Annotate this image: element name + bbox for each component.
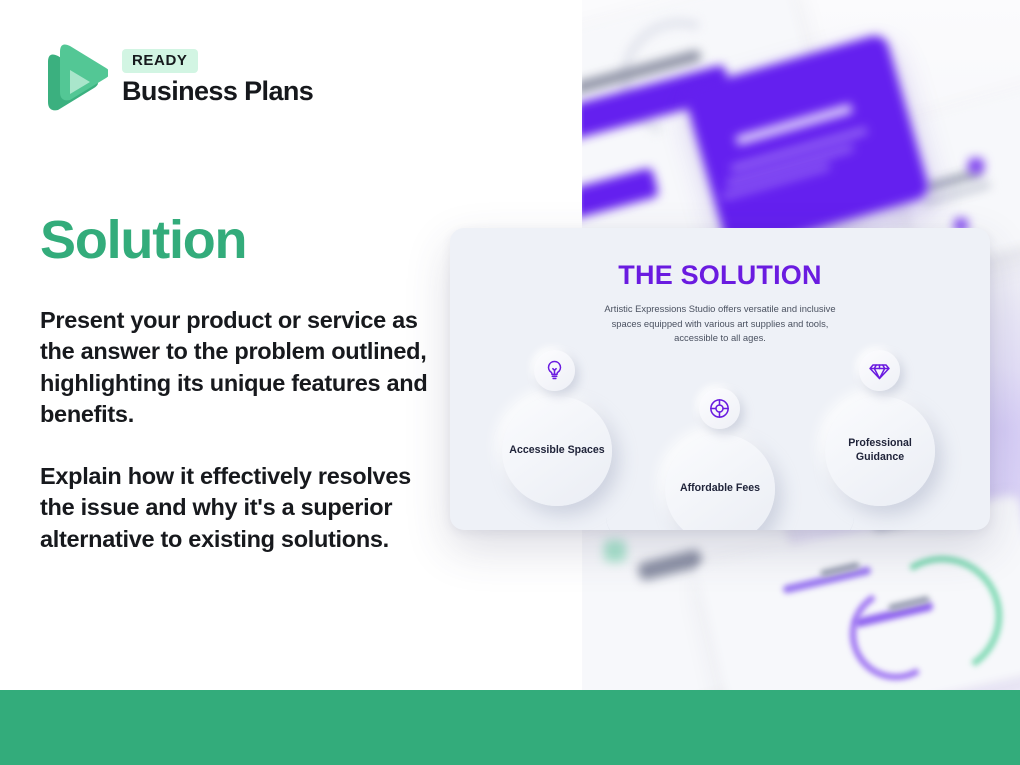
paragraph-1: Present your product or service as the a… xyxy=(40,305,440,430)
brand-name: Business Plans xyxy=(122,76,313,107)
node-label: Professional Guidance xyxy=(825,437,935,465)
bg-green-dot xyxy=(604,540,626,562)
slide-preview-card[interactable]: THE SOLUTION Artistic Expressions Studio… xyxy=(450,228,990,530)
body-copy: Present your product or service as the a… xyxy=(40,305,440,555)
node-affordable-fees[interactable]: Affordable Fees xyxy=(665,434,775,530)
node-professional-guidance[interactable]: Professional Guidance xyxy=(825,396,935,506)
lightbulb-icon xyxy=(534,350,575,391)
slide-page: READY Business Plans Solution Present yo… xyxy=(0,0,1020,765)
node-label: Affordable Fees xyxy=(680,482,760,496)
slide-node-group: Accessible Spaces Affordable Fees Profes… xyxy=(450,338,990,530)
node-label: Accessible Spaces xyxy=(509,444,604,458)
lifebuoy-icon xyxy=(699,388,740,429)
play-triangle-logo-icon xyxy=(40,40,108,116)
diamond-icon xyxy=(859,350,900,391)
paragraph-2: Explain how it effectively resolves the … xyxy=(40,461,440,555)
node-accessible-spaces[interactable]: Accessible Spaces xyxy=(502,396,612,506)
brand-logo[interactable]: READY Business Plans xyxy=(40,40,313,116)
bg-purple-dot xyxy=(968,158,984,174)
page-title: Solution xyxy=(40,212,246,269)
ready-badge: READY xyxy=(122,49,198,73)
brand-text-lockup: READY Business Plans xyxy=(122,49,313,107)
slide-preview-title: THE SOLUTION xyxy=(450,260,990,291)
footer-bar xyxy=(0,690,1020,765)
